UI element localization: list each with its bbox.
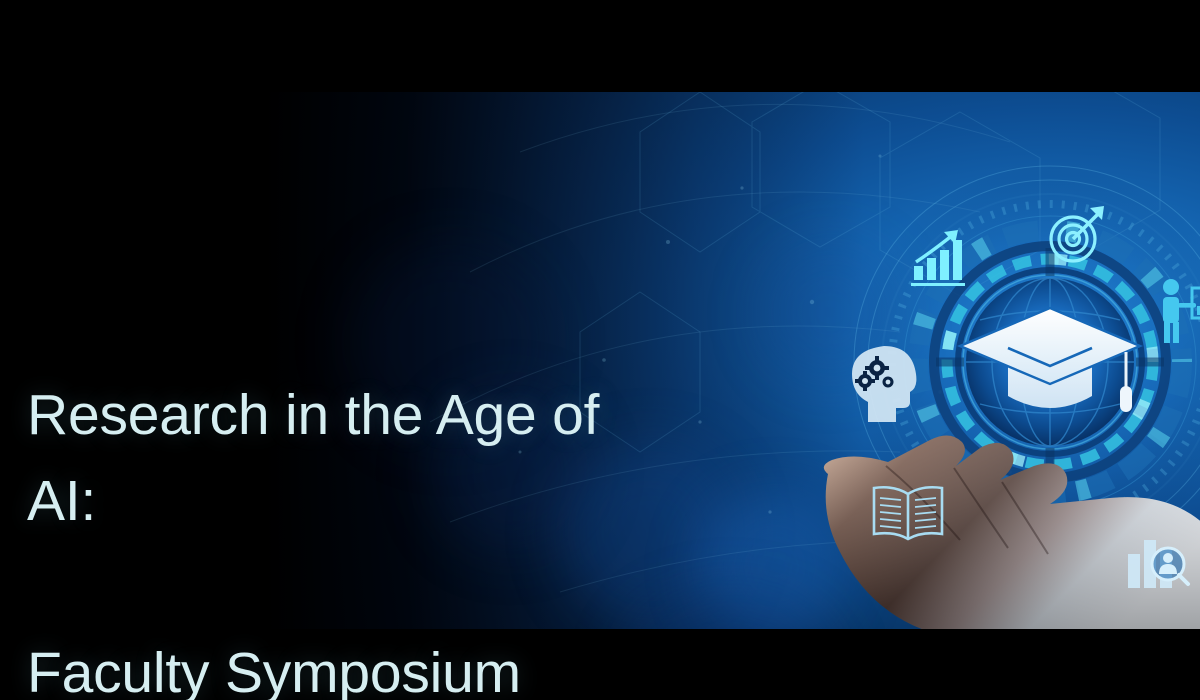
brain-gears-head-icon (846, 344, 924, 426)
presenter-person-icon (1158, 278, 1200, 344)
page-title: Research in the Age of AI: Faculty Sympo… (27, 286, 667, 700)
slide-canvas: Research in the Age of AI: Faculty Sympo… (0, 0, 1200, 700)
page-title-line-2: Faculty Symposium (27, 630, 667, 700)
target-bullseye-icon (1046, 204, 1108, 266)
talent-analytics-icon (1126, 528, 1198, 590)
page-title-line-1: Research in the Age of AI: (27, 372, 667, 544)
open-book-icon (868, 482, 948, 544)
growth-chart-icon (908, 228, 970, 290)
